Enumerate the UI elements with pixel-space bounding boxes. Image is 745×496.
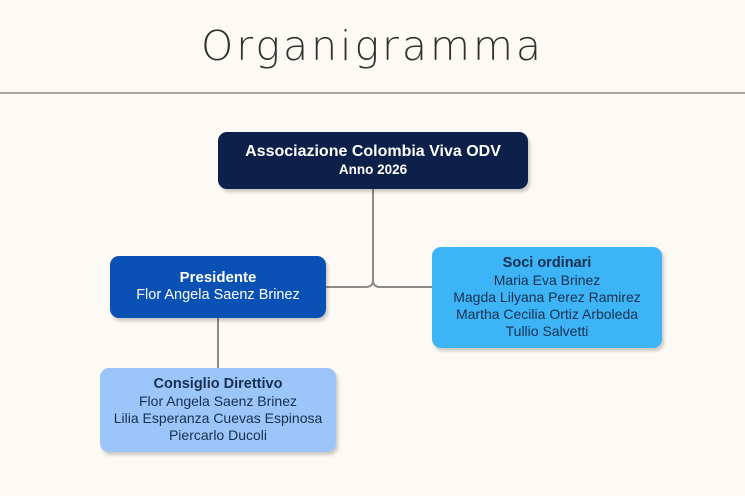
node-presidente[interactable]: Presidente Flor Angela Saenz Brinez bbox=[110, 256, 326, 318]
node-consiglio-line-2: Lilia Esperanza Cuevas Espinosa bbox=[114, 410, 323, 427]
node-soci-line-4: Tullio Salvetti bbox=[506, 323, 589, 340]
node-consiglio-line-3: Piercarlo Ducoli bbox=[169, 427, 267, 444]
node-soci-line-2: Magda Lilyana Perez Ramirez bbox=[453, 289, 641, 306]
connector-root-to-soci bbox=[373, 189, 432, 287]
node-consiglio-direttivo[interactable]: Consiglio Direttivo Flor Angela Saenz Br… bbox=[100, 368, 336, 452]
node-soci-line-3: Martha Cecilia Ortiz Arboleda bbox=[456, 306, 638, 323]
connector-root-to-presidente bbox=[326, 189, 373, 287]
node-soci-line-1: Maria Eva Brinez bbox=[494, 272, 601, 289]
node-soci-title: Soci ordinari bbox=[503, 255, 592, 272]
node-root-title: Associazione Colombia Viva ODV bbox=[245, 143, 501, 162]
node-presidente-title: Presidente bbox=[180, 269, 257, 287]
org-chart: Associazione Colombia Viva ODV Anno 2026… bbox=[0, 0, 745, 496]
node-soci-ordinari[interactable]: Soci ordinari Maria Eva Brinez Magda Lil… bbox=[432, 247, 662, 348]
node-consiglio-title: Consiglio Direttivo bbox=[154, 376, 283, 393]
node-consiglio-line-1: Flor Angela Saenz Brinez bbox=[139, 393, 297, 410]
node-presidente-line-1: Flor Angela Saenz Brinez bbox=[136, 287, 300, 304]
node-associazione-colombia-viva-odv[interactable]: Associazione Colombia Viva ODV Anno 2026 bbox=[218, 132, 528, 189]
node-root-line-1: Anno 2026 bbox=[339, 162, 407, 178]
